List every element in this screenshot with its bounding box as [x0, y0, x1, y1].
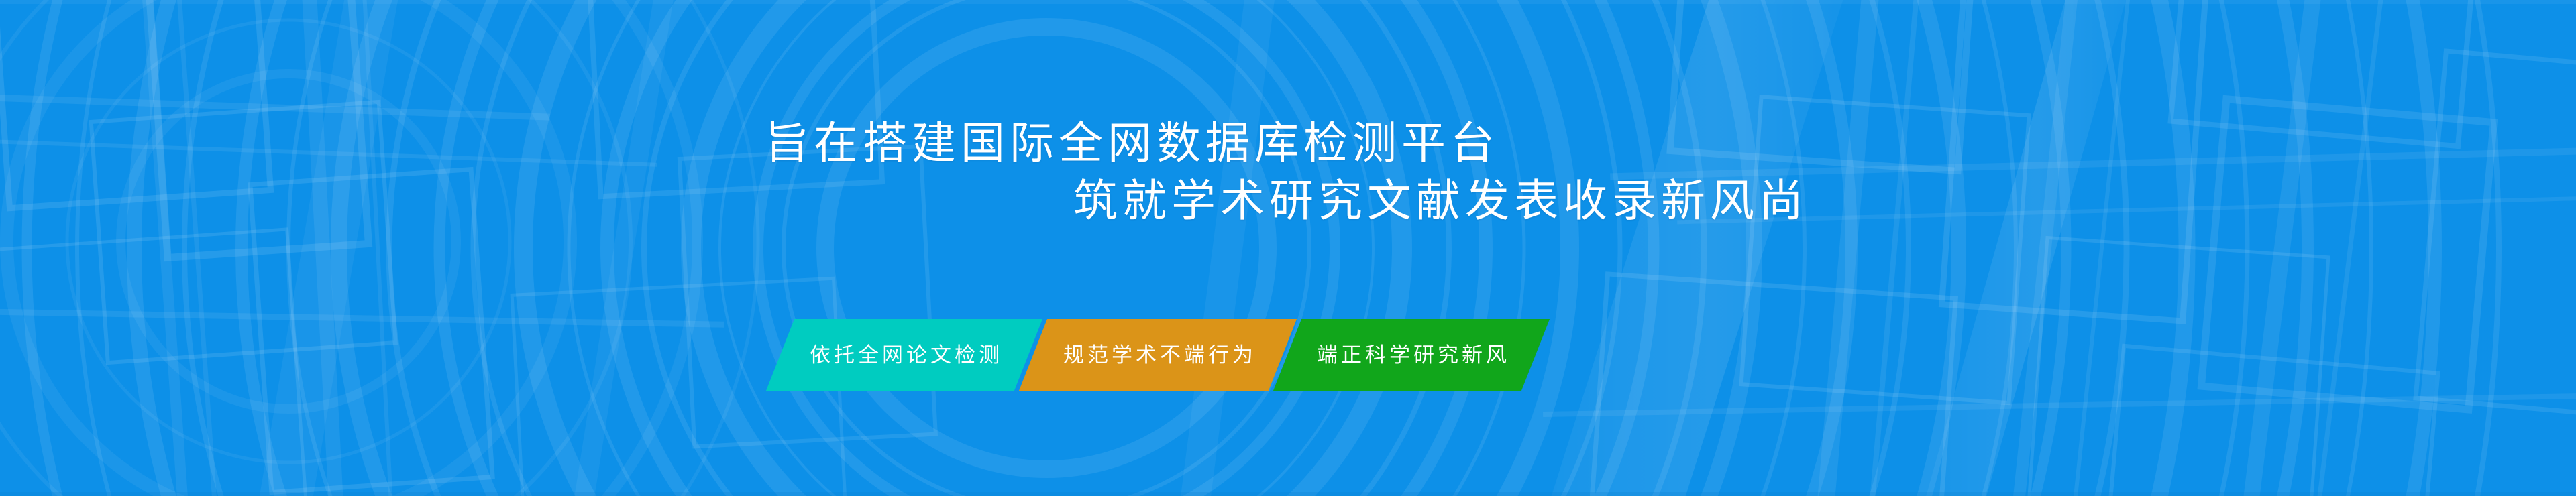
feature-tag-duanzheng-kexue-yanjiu[interactable]: 端正科学研究新风 — [1273, 319, 1550, 391]
feature-tag-label-2: 规范学术不端行为 — [1060, 345, 1256, 365]
background-pattern — [0, 0, 2576, 496]
feature-tag-quanwang-lunwen-jiance[interactable]: 依托全网论文检测 — [766, 319, 1042, 391]
feature-tag-guifan-xueshu-buduan[interactable]: 规范学术不端行为 — [1019, 319, 1297, 391]
feature-tag-strip: 依托全网论文检测 规范学术不端行为 端正科学研究新风 — [780, 319, 1536, 391]
promo-banner: 旨在搭建国际全网数据库检测平台 筑就学术研究文献发表收录新风尚 依托全网论文检测… — [0, 0, 2576, 496]
feature-tag-label-3: 端正科学研究新风 — [1313, 345, 1510, 365]
feature-tag-label-1: 依托全网论文检测 — [806, 345, 1003, 365]
